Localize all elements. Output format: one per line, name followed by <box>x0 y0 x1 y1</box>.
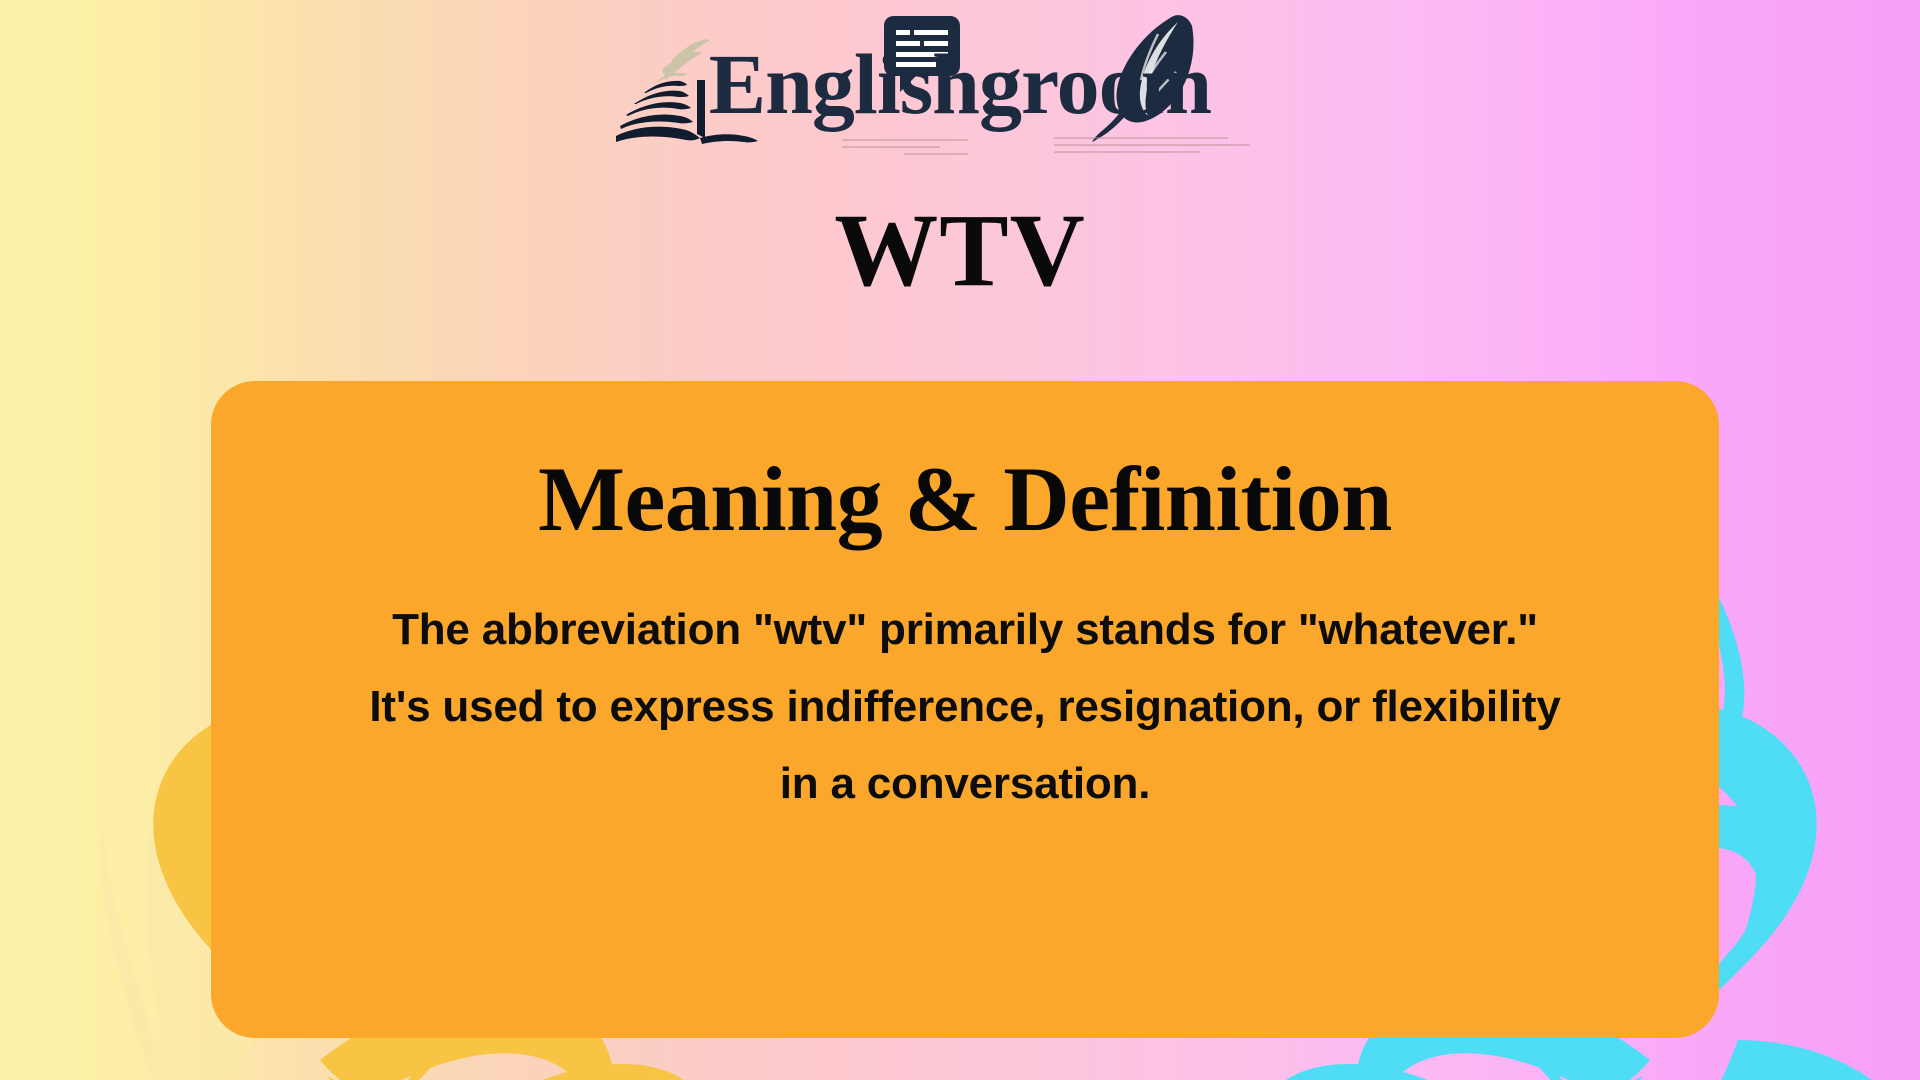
meaning-definition-card: Meaning & Definition The abbreviation "w… <box>211 381 1719 1038</box>
card-title: Meaning & Definition <box>331 445 1599 553</box>
page-title: WTV <box>0 196 1920 306</box>
card-body-text: The abbreviation "wtv" primarily stands … <box>365 591 1565 822</box>
brand-logo: Englishgroom <box>0 14 1920 159</box>
brand-wordmark: Englishgroom <box>610 14 1310 154</box>
poster-canvas: Englishgroom WTV Meaning & Definition Th… <box>0 0 1920 1080</box>
